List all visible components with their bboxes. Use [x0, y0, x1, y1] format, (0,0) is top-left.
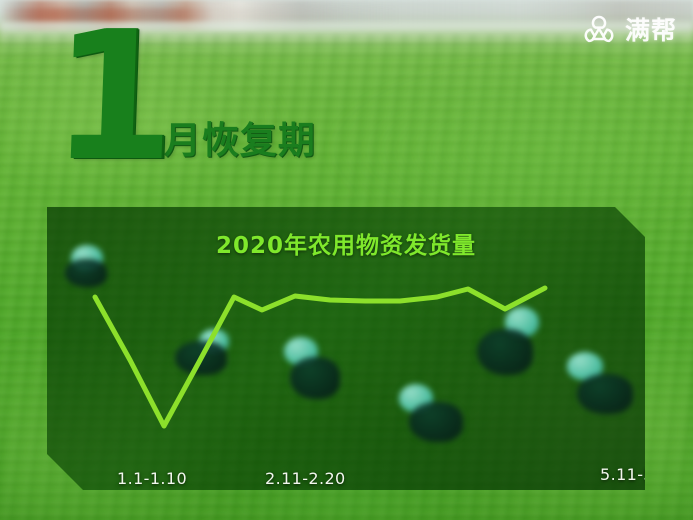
headline-month-number: 1: [50, 28, 173, 167]
headline-group: 1 月恢复期: [52, 28, 316, 167]
data-label-feb-11-20: 2.11-2.20: [265, 469, 346, 488]
chart-line-series: [95, 288, 545, 426]
data-label-jan-1-10: 1.1-1.10: [117, 469, 187, 488]
headline-subtitle: 月恢复期: [164, 122, 316, 159]
slide-canvas: 满帮 1 月恢复期: [0, 0, 693, 520]
chart-title: 2020年农用物资发货量: [47, 226, 645, 260]
brand-logo: 满帮: [580, 12, 677, 50]
clover-trefoil-icon: [580, 12, 618, 50]
chart-panel: 2020年农用物资发货量 1.1-1.10 2.11-2.20 1.21-1.3…: [47, 207, 645, 490]
brand-name: 满帮: [625, 19, 677, 44]
data-label-may-11-20: 5.11-5.20: [600, 465, 645, 484]
